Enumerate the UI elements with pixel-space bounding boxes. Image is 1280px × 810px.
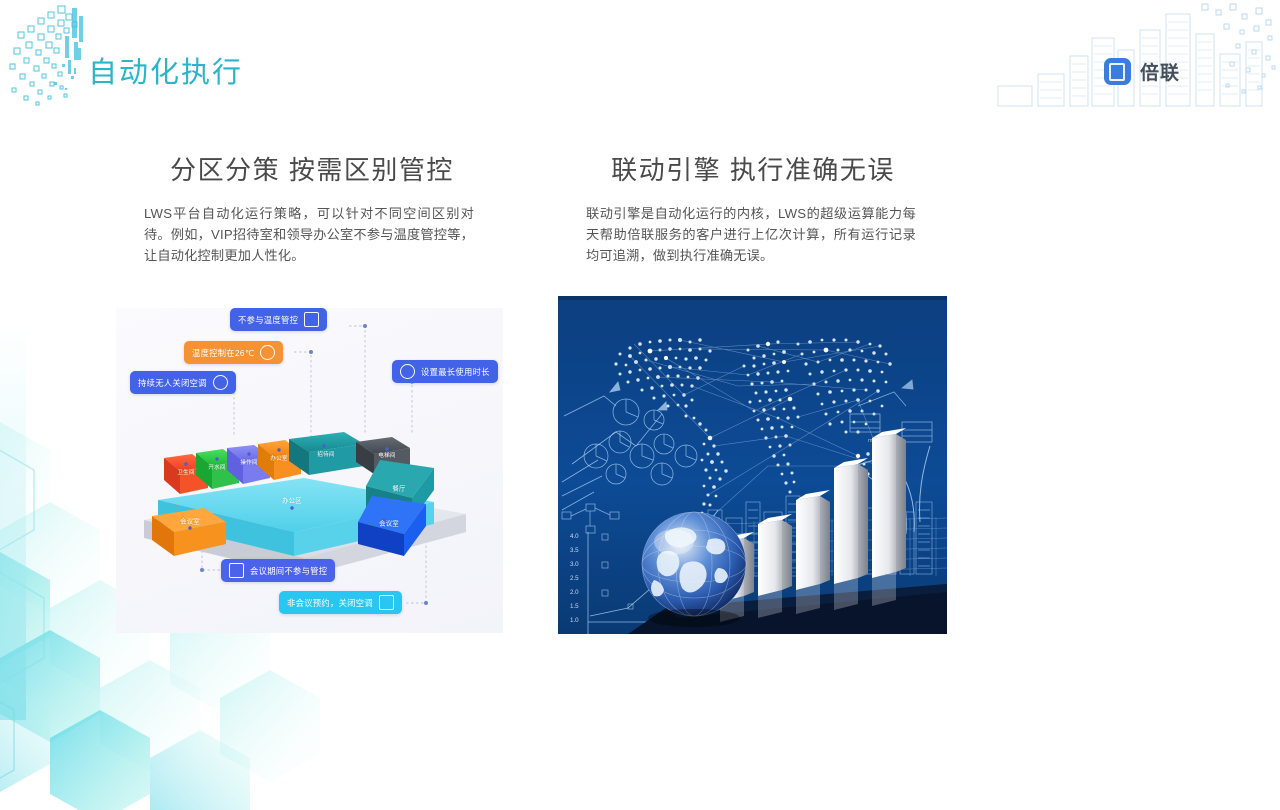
svg-text:3.5: 3.5 bbox=[570, 547, 579, 554]
callout-no-booking-shutdown[interactable]: 非会议预约，关闭空调 bbox=[279, 591, 402, 614]
svg-text:3.0: 3.0 bbox=[570, 561, 579, 568]
brand-logo: 倍联 bbox=[1104, 58, 1180, 85]
floorplan-graphic bbox=[116, 308, 503, 633]
right-section-body: 联动引擎是自动化运行的内核，LWS的超级运算能力每天帮助倍联服务的客户进行上亿次… bbox=[586, 203, 916, 266]
callout-label: 持续无人关闭空调 bbox=[138, 377, 207, 389]
left-section-heading: 分区分策 按需区别管控 bbox=[116, 150, 508, 187]
room-label: 卫生间 bbox=[177, 468, 194, 476]
timer-icon bbox=[400, 364, 415, 379]
callout-max-usage-duration[interactable]: 设置最长使用时长 bbox=[392, 360, 498, 383]
right-column: 联动引擎 执行准确无误 联动引擎是自动化运行的内核，LWS的超级运算能力每天帮助… bbox=[558, 150, 948, 279]
rounded-square-logo-icon bbox=[1104, 58, 1131, 85]
room-label: 会议室 bbox=[379, 519, 399, 528]
room-label: 会议室 bbox=[180, 517, 200, 526]
zoned-floorplan-illustration: 卫生间 开水间 操作间 办公室 招待间 电梯间 餐厅 会议室 办公区 会议室 不… bbox=[116, 308, 503, 633]
callout-label: 非会议预约，关闭空调 bbox=[287, 597, 373, 609]
room-label: 操作间 bbox=[240, 458, 257, 466]
left-column: 分区分策 按需区别管控 LWS平台自动化运行策略，可以针对不同空间区别对待。例如… bbox=[116, 150, 508, 279]
brand-name: 倍联 bbox=[1140, 58, 1180, 85]
projector-screen-icon bbox=[229, 563, 244, 578]
right-section-heading: 联动引擎 执行准确无误 bbox=[558, 150, 948, 187]
callout-label: 不参与温度管控 bbox=[238, 314, 298, 326]
callout-label: 设置最长使用时长 bbox=[421, 366, 490, 378]
motion-sensor-icon bbox=[213, 375, 228, 390]
callout-meeting-exempt[interactable]: 会议期间不参与管控 bbox=[221, 559, 335, 582]
svg-text:1.0: 1.0 bbox=[570, 617, 579, 624]
global-data-graphic: 4.03.53.0 2.52.01.5 1.0 bbox=[558, 296, 947, 634]
callout-label: 会议期间不参与管控 bbox=[250, 565, 327, 577]
left-section-body: LWS平台自动化运行策略，可以针对不同空间区别对待。例如，VIP招待室和领导办公… bbox=[144, 203, 474, 266]
room-label: 开水间 bbox=[208, 463, 225, 471]
room-label: 招待间 bbox=[317, 450, 334, 458]
page-title: 自动化执行 bbox=[88, 49, 243, 91]
list-panel-icon bbox=[304, 312, 319, 327]
callout-label: 温度控制在26℃ bbox=[192, 347, 254, 359]
svg-text:2.0: 2.0 bbox=[570, 589, 579, 596]
room-label: 电梯间 bbox=[378, 451, 395, 459]
room-label: 办公区 bbox=[282, 496, 302, 505]
room-label: 餐厅 bbox=[392, 484, 405, 493]
global-data-computing-illustration: 4.03.53.0 2.52.01.5 1.0 bbox=[558, 296, 947, 634]
callout-unoccupied-shutdown[interactable]: 持续无人关闭空调 bbox=[130, 371, 236, 394]
calendar-check-icon bbox=[379, 595, 394, 610]
svg-text:1.5: 1.5 bbox=[570, 603, 579, 610]
page-header: 自动化执行 倍联 bbox=[0, 0, 1280, 118]
thermometer-icon bbox=[260, 345, 275, 360]
svg-text:4.0: 4.0 bbox=[570, 533, 579, 540]
callout-no-temperature-control[interactable]: 不参与温度管控 bbox=[230, 308, 327, 331]
room-label: 办公室 bbox=[270, 454, 287, 462]
svg-text:2.5: 2.5 bbox=[570, 575, 579, 582]
callout-temperature-26[interactable]: 温度控制在26℃ bbox=[184, 341, 283, 364]
